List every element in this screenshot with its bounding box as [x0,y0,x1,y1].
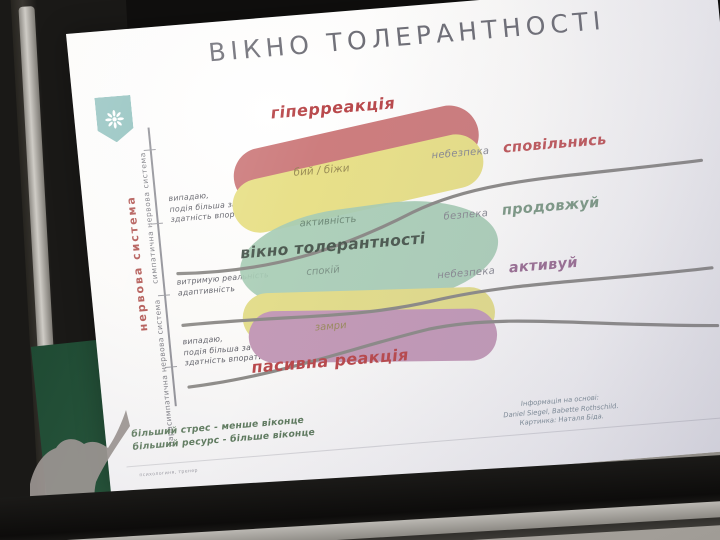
flower-icon [103,107,127,131]
flower-crest-logo [94,95,134,144]
wavy-boundary-lines [136,81,720,427]
photo-of-projected-slide: ВІКНО ТОЛЕРАНТНОСТІ нервова система симп… [0,0,720,540]
state-label: безпека [443,208,489,223]
